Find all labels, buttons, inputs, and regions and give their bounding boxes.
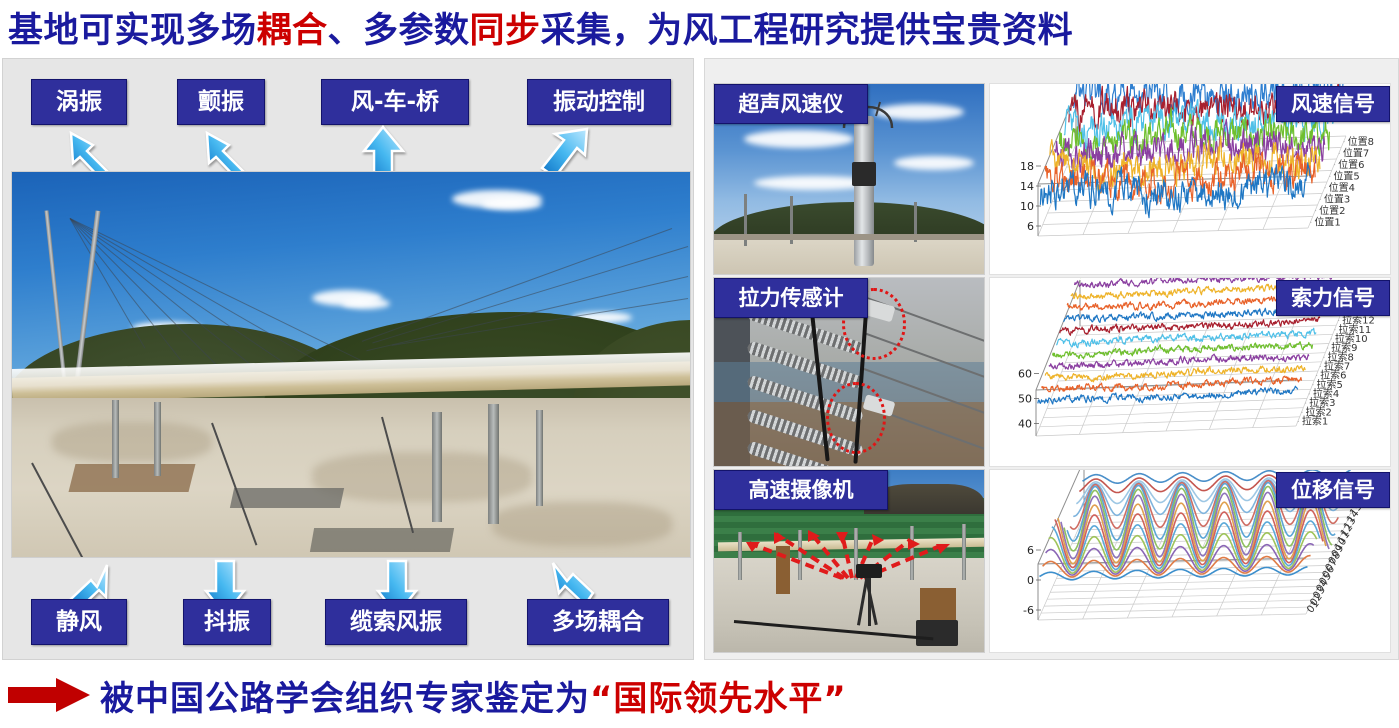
chip-top-1[interactable]: 颤振 [177,79,265,125]
ground-patch [312,452,532,502]
footer: 被中国公路学会组织专家鉴定为“国际领先水平” [0,664,1399,726]
test-post [536,410,543,506]
svg-text:60: 60 [1018,368,1032,381]
motion-arrows-icon [724,520,980,590]
base-plate [230,488,344,508]
bridge-line [714,234,984,240]
ground-patch [52,422,212,462]
svg-text:18: 18 [1020,160,1034,173]
chip-top-0[interactable]: 涡振 [31,79,127,125]
svg-text:位置6: 位置6 [1338,158,1364,171]
svg-text:位置5: 位置5 [1333,169,1359,182]
test-post [112,400,119,478]
chip-top-2[interactable]: 风-车-桥 [321,79,469,125]
svg-text:40: 40 [1018,418,1032,431]
annotation-circle-bottom [826,382,886,454]
svg-text:6: 6 [1027,220,1034,233]
svg-text:50: 50 [1018,393,1032,406]
svg-text:位置4: 位置4 [1329,181,1355,194]
test-post [432,412,442,522]
cloud [342,298,390,309]
svg-text:6: 6 [1027,544,1034,557]
text-run-highlight: 耦合 [257,2,328,53]
label-displacement-signal: 位移信号 [1276,472,1390,508]
chip-bottom-2[interactable]: 缆索风振 [325,599,467,645]
cloud [482,198,542,210]
chip-bottom-3[interactable]: 多场耦合 [527,599,669,645]
text-run-highlight: 同步 [470,2,541,53]
chip-top-3[interactable]: 振动控制 [527,79,671,125]
svg-text:位置3: 位置3 [1324,192,1350,205]
svg-text:0: 0 [1027,574,1034,587]
equipment-box [920,588,956,622]
left-panel: 涡振 颤振 风-车-桥 振动控制 [2,58,694,660]
label-cable-force-signal: 索力信号 [1276,280,1390,316]
svg-text:位置2: 位置2 [1319,204,1345,217]
bridge-site-photo [11,171,691,558]
sensor-module [852,162,876,186]
photo-tension-sensor: 拉力传感计 [713,277,985,467]
red-arrow-icon [8,678,90,712]
cloud [894,156,974,170]
chip-bottom-0[interactable]: 静风 [31,599,127,645]
base-plate [310,528,454,552]
slide-root: 基地可实现多场耦合、多参数同步采集，为风工程研究提供宝贵资料 涡振 颤振 风-车… [0,0,1399,728]
chart-wind-speed: 6101418位置1位置2位置3位置4位置5位置6位置7位置8 风速信号 [989,83,1391,275]
svg-text:14: 14 [1020,180,1034,193]
chart-displacement: -606010203040506070809101112131415 位移信号 [989,469,1391,653]
page-title: 基地可实现多场耦合、多参数同步采集，为风工程研究提供宝贵资料 [8,2,1391,52]
test-post [154,402,161,476]
photo-high-speed-camera: 高速摄像机 [713,469,985,653]
svg-text:位置7: 位置7 [1343,146,1369,159]
text-run: 被中国公路学会组织专家鉴定为 [100,671,590,720]
base-plate [69,464,196,492]
svg-text:-6: -6 [1023,604,1034,617]
ground-patch [492,502,672,546]
text-run: 采集，为风工程研究提供宝贵资料 [541,2,1074,53]
test-post [488,404,499,524]
label-tension-sensor: 拉力传感计 [714,278,868,318]
label-wind-speed-signal: 风速信号 [1276,86,1390,122]
concrete-ground [714,234,985,275]
svg-text:位置8: 位置8 [1348,135,1374,148]
chart-cable-force: 405060拉索1拉索2拉索3拉索4拉索5拉索6拉索7拉索8拉索9拉索10拉索1… [989,277,1391,467]
text-run: 基地可实现多场 [8,2,257,53]
right-panel: 超声风速仪 6101418位置1位置2位置3位置4位置5位置6位置7位置8 风速… [704,58,1399,660]
svg-text:10: 10 [1020,200,1034,213]
camera-body [856,564,882,578]
tripod-leg [868,574,871,626]
text-run: 、多参数 [328,2,470,53]
photo-anemometer: 超声风速仪 [713,83,985,275]
svg-text:位置1: 位置1 [1314,215,1340,228]
text-run-highlight: “国际领先水平” [590,671,847,720]
label-anemometer: 超声风速仪 [714,84,868,124]
footer-text: 被中国公路学会组织专家鉴定为“国际领先水平” [100,664,847,726]
chip-bottom-1[interactable]: 抖振 [183,599,271,645]
label-high-speed-camera: 高速摄像机 [714,470,888,510]
laptop [916,620,958,646]
